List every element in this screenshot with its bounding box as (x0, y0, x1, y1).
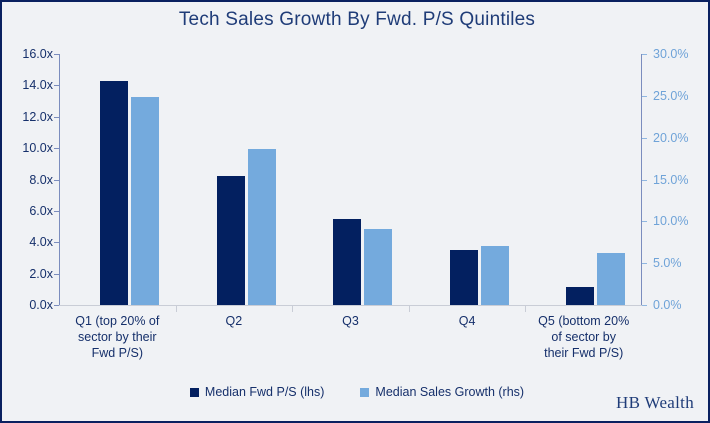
x-axis-category-label-line: their Fwd P/S) (525, 345, 642, 361)
x-axis-category-label-line: Q2 (176, 313, 293, 329)
right-axis-tick-label: 0.0% (653, 299, 682, 312)
x-axis-category-label-line: Fwd P/S) (59, 345, 176, 361)
bar-median-fwd-ps[interactable] (450, 250, 478, 305)
right-axis-tick-label: 30.0% (653, 48, 688, 61)
bar-group (59, 54, 176, 305)
legend-item-label: Median Fwd P/S (lhs) (205, 385, 324, 399)
bar-group (409, 54, 526, 305)
x-axis-category-label: Q5 (bottom 20%of sector bytheir Fwd P/S) (525, 313, 642, 361)
right-axis-tick (642, 96, 647, 97)
category-separator (176, 305, 177, 312)
right-axis-tick (642, 305, 647, 306)
right-axis-tick (642, 138, 647, 139)
bar-median-fwd-ps[interactable] (217, 176, 245, 305)
left-axis-tick-label: 2.0x (29, 268, 53, 281)
left-axis-tick-label: 4.0x (29, 236, 53, 249)
x-axis-category-label: Q3 (292, 313, 409, 329)
right-axis-tick-label: 10.0% (653, 215, 688, 228)
legend-item[interactable]: Median Sales Growth (rhs) (360, 385, 524, 399)
left-axis-tick-label: 14.0x (22, 79, 53, 92)
x-axis-category-label: Q1 (top 20% ofsector by theirFwd P/S) (59, 313, 176, 361)
bar-group (525, 54, 642, 305)
legend-item-label: Median Sales Growth (rhs) (375, 385, 524, 399)
bar-median-fwd-ps[interactable] (566, 287, 594, 305)
right-axis-tick-labels: 30.0%25.0%20.0%15.0%10.0%5.0%0.0% (653, 54, 707, 305)
chart-title: Tech Sales Growth By Fwd. P/S Quintiles (2, 9, 710, 31)
plot-area (59, 54, 642, 305)
left-axis-tick-label: 6.0x (29, 205, 53, 218)
right-axis-tick (642, 54, 647, 55)
right-axis-tick-label: 15.0% (653, 174, 688, 187)
chart-legend: Median Fwd P/S (lhs)Median Sales Growth … (2, 385, 710, 399)
legend-swatch-icon (190, 388, 199, 397)
bar-group (292, 54, 409, 305)
bar-median-sales-growth[interactable] (248, 149, 276, 305)
left-axis-tick-label: 10.0x (22, 142, 53, 155)
x-axis-category-label-line: Q3 (292, 313, 409, 329)
right-axis-tick (642, 263, 647, 264)
bar-median-sales-growth[interactable] (364, 229, 392, 305)
baseline (59, 305, 642, 306)
x-axis-category-label-line: Q4 (409, 313, 526, 329)
brand-watermark: HB Wealth (616, 393, 694, 413)
bar-group (176, 54, 293, 305)
right-axis-tick-label: 25.0% (653, 90, 688, 103)
legend-item[interactable]: Median Fwd P/S (lhs) (190, 385, 324, 399)
bar-median-fwd-ps[interactable] (333, 219, 361, 305)
left-axis-tick-label: 16.0x (22, 48, 53, 61)
right-axis-tick (642, 180, 647, 181)
category-separator (525, 305, 526, 312)
x-axis-category-label: Q2 (176, 313, 293, 329)
bar-median-fwd-ps[interactable] (100, 81, 128, 305)
bar-median-sales-growth[interactable] (481, 246, 509, 305)
right-axis-tick-label: 20.0% (653, 132, 688, 145)
left-axis-tick-labels: 16.0x14.0x12.0x10.0x8.0x6.0x4.0x2.0x0.0x (7, 54, 53, 305)
x-axis-category-label-line: sector by their (59, 329, 176, 345)
left-axis-tick-label: 12.0x (22, 111, 53, 124)
left-axis-tick (54, 305, 59, 306)
left-axis-tick-label: 8.0x (29, 174, 53, 187)
category-separator (292, 305, 293, 312)
x-axis-category-label-line: of sector by (525, 329, 642, 345)
bar-median-sales-growth[interactable] (597, 253, 625, 305)
right-axis-tick-label: 5.0% (653, 257, 682, 270)
bar-median-sales-growth[interactable] (131, 97, 159, 305)
left-axis-tick-label: 0.0x (29, 299, 53, 312)
legend-swatch-icon (360, 388, 369, 397)
x-axis-category-label-line: Q5 (bottom 20% (525, 313, 642, 329)
x-axis-category-labels: Q1 (top 20% ofsector by theirFwd P/S)Q2Q… (59, 313, 642, 371)
chart-card: Tech Sales Growth By Fwd. P/S Quintiles … (0, 0, 710, 423)
x-axis-category-label-line: Q1 (top 20% of (59, 313, 176, 329)
x-axis-category-label: Q4 (409, 313, 526, 329)
right-axis-tick (642, 221, 647, 222)
category-separator (409, 305, 410, 312)
